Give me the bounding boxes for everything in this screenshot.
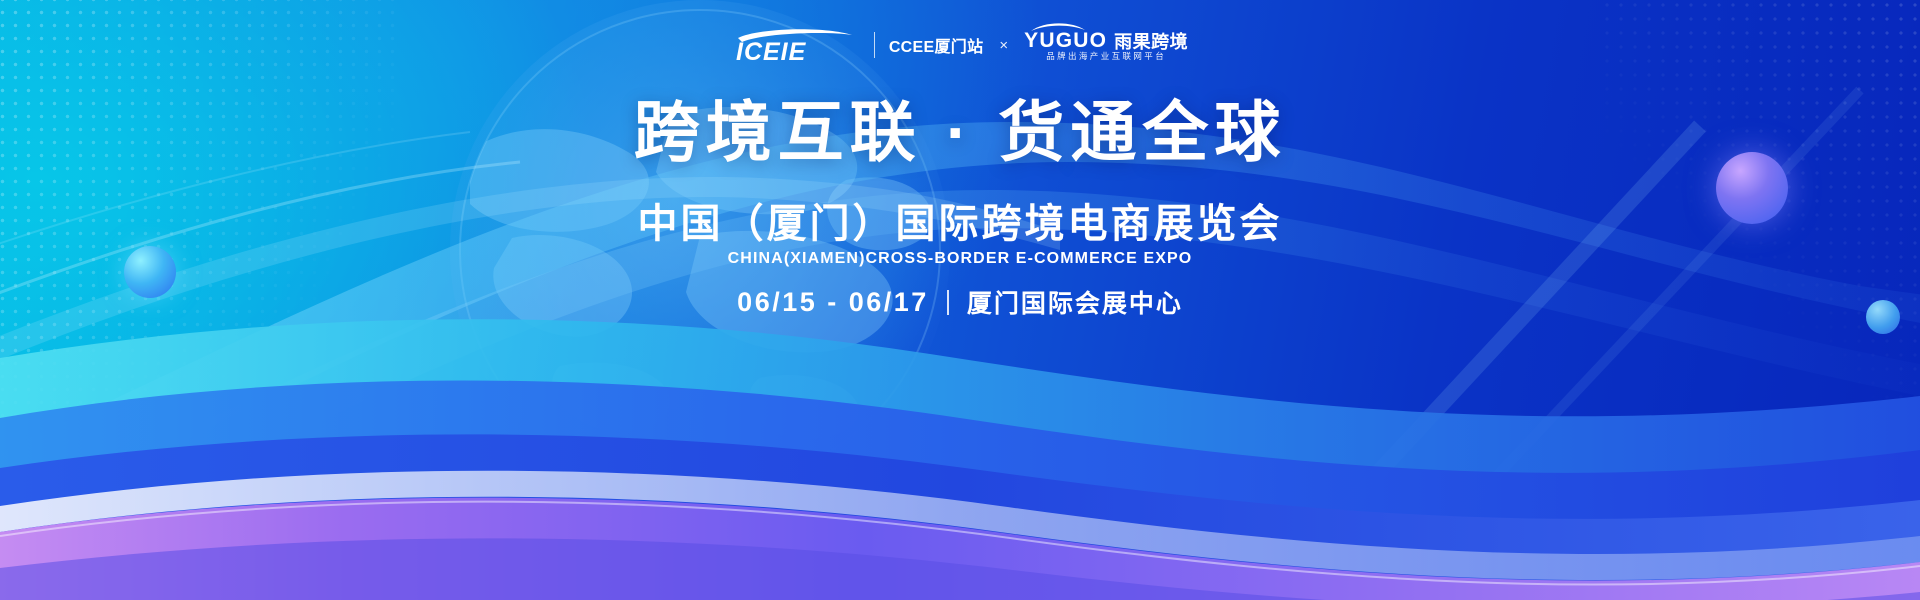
event-banner: ICEIE CCEE厦门站 × YUGUO 雨果跨境 品牌出海产业互联网平台 跨… bbox=[0, 0, 1920, 600]
logo-bar: ICEIE CCEE厦门站 × YUGUO 雨果跨境 品牌出海产业互联网平台 bbox=[0, 20, 1920, 70]
yuguo-chinese-name: 雨果跨境 bbox=[1114, 33, 1188, 51]
yuguo-logo[interactable]: YUGUO 雨果跨境 品牌出海产业互联网平台 bbox=[1024, 30, 1188, 61]
bottom-wave-decoration bbox=[0, 300, 1920, 600]
banner-headline: 跨境互联 · 货通全球 bbox=[0, 96, 1920, 169]
yuguo-wordmark-text: YUGUO bbox=[1024, 29, 1107, 52]
yuguo-wordmark: YUGUO bbox=[1024, 30, 1107, 51]
yuguo-tagline: 品牌出海产业互联网平台 bbox=[1046, 52, 1166, 61]
banner-subtitle-cn: 中国（厦门）国际跨境电商展览会 bbox=[0, 200, 1920, 248]
ccee-label: CCEE厦门站 bbox=[889, 33, 984, 57]
yuguo-logo-row: YUGUO 雨果跨境 bbox=[1024, 30, 1188, 51]
decorative-sphere-left bbox=[124, 246, 176, 298]
cross-icon: × bbox=[997, 38, 1010, 53]
decorative-sphere-right-large bbox=[1716, 152, 1788, 224]
banner-subtitle-en: CHINA(XIAMEN)CROSS-BORDER E-COMMERCE EXP… bbox=[0, 249, 1920, 268]
iceie-logo-icon[interactable]: ICEIE bbox=[732, 25, 860, 65]
logo-divider bbox=[874, 32, 875, 58]
yuguo-arc-icon bbox=[1030, 21, 1086, 32]
